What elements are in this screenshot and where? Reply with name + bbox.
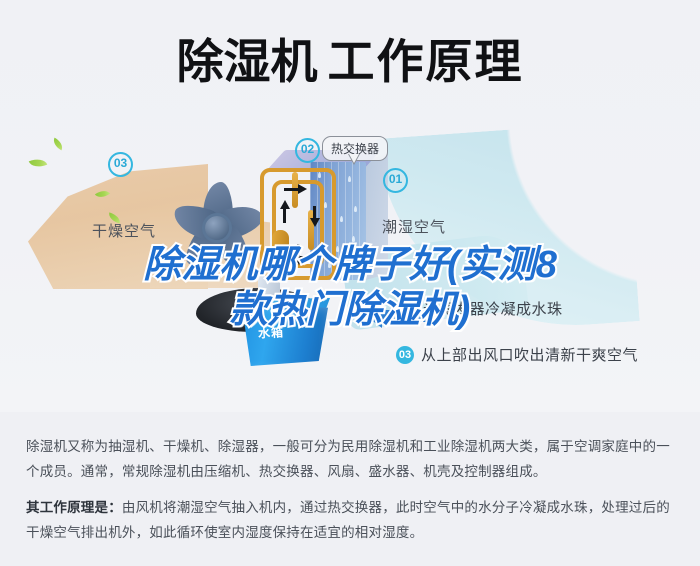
dry-air-label: 干燥空气 bbox=[92, 220, 156, 241]
page-title-part-1: 除湿机 bbox=[177, 35, 318, 88]
article-illustration: 除湿机工作原理 bbox=[0, 0, 700, 412]
leaf-icon bbox=[51, 138, 65, 151]
page-title: 除湿机工作原理 bbox=[0, 38, 700, 85]
humid-air-label: 潮湿空气 bbox=[382, 216, 446, 237]
legend-badge-03: 03 bbox=[396, 346, 414, 364]
watermark-line-1: 除湿机哪个牌子好(实测8 bbox=[0, 243, 700, 288]
leaf-icon bbox=[29, 155, 48, 170]
paragraph-2-lead: 其工作原理是： bbox=[26, 500, 122, 515]
marker-badge-02: 02 bbox=[295, 138, 320, 163]
watermark-line-2: 款热门除湿机) bbox=[0, 288, 700, 333]
watermark-headline: 除湿机哪个牌子好(实测8 款热门除湿机) bbox=[0, 243, 700, 333]
page-title-part-2: 工作原理 bbox=[328, 35, 524, 88]
article-paragraph-2: 其工作原理是：由风机将潮湿空气抽入机内，通过热交换器，此时空气中的水分子冷凝成水… bbox=[26, 495, 676, 545]
article-paragraph-1: 除湿机又称为抽湿机、干燥机、除湿器，一般可分为民用除湿机和工业除湿机两大类，属于… bbox=[26, 434, 676, 484]
legend-item-03: 03 从上部出风口吹出清新干爽空气 bbox=[396, 344, 638, 365]
marker-badge-01: 01 bbox=[383, 168, 408, 193]
legend-text-03: 从上部出风口吹出清新干爽空气 bbox=[421, 344, 638, 365]
marker-badge-03: 03 bbox=[108, 152, 133, 177]
paragraph-2-rest: 由风机将潮湿空气抽入机内，通过热交换器，此时空气中的水分子冷凝成水珠，处理过后的… bbox=[26, 500, 670, 540]
callout-tail-icon bbox=[348, 154, 360, 165]
